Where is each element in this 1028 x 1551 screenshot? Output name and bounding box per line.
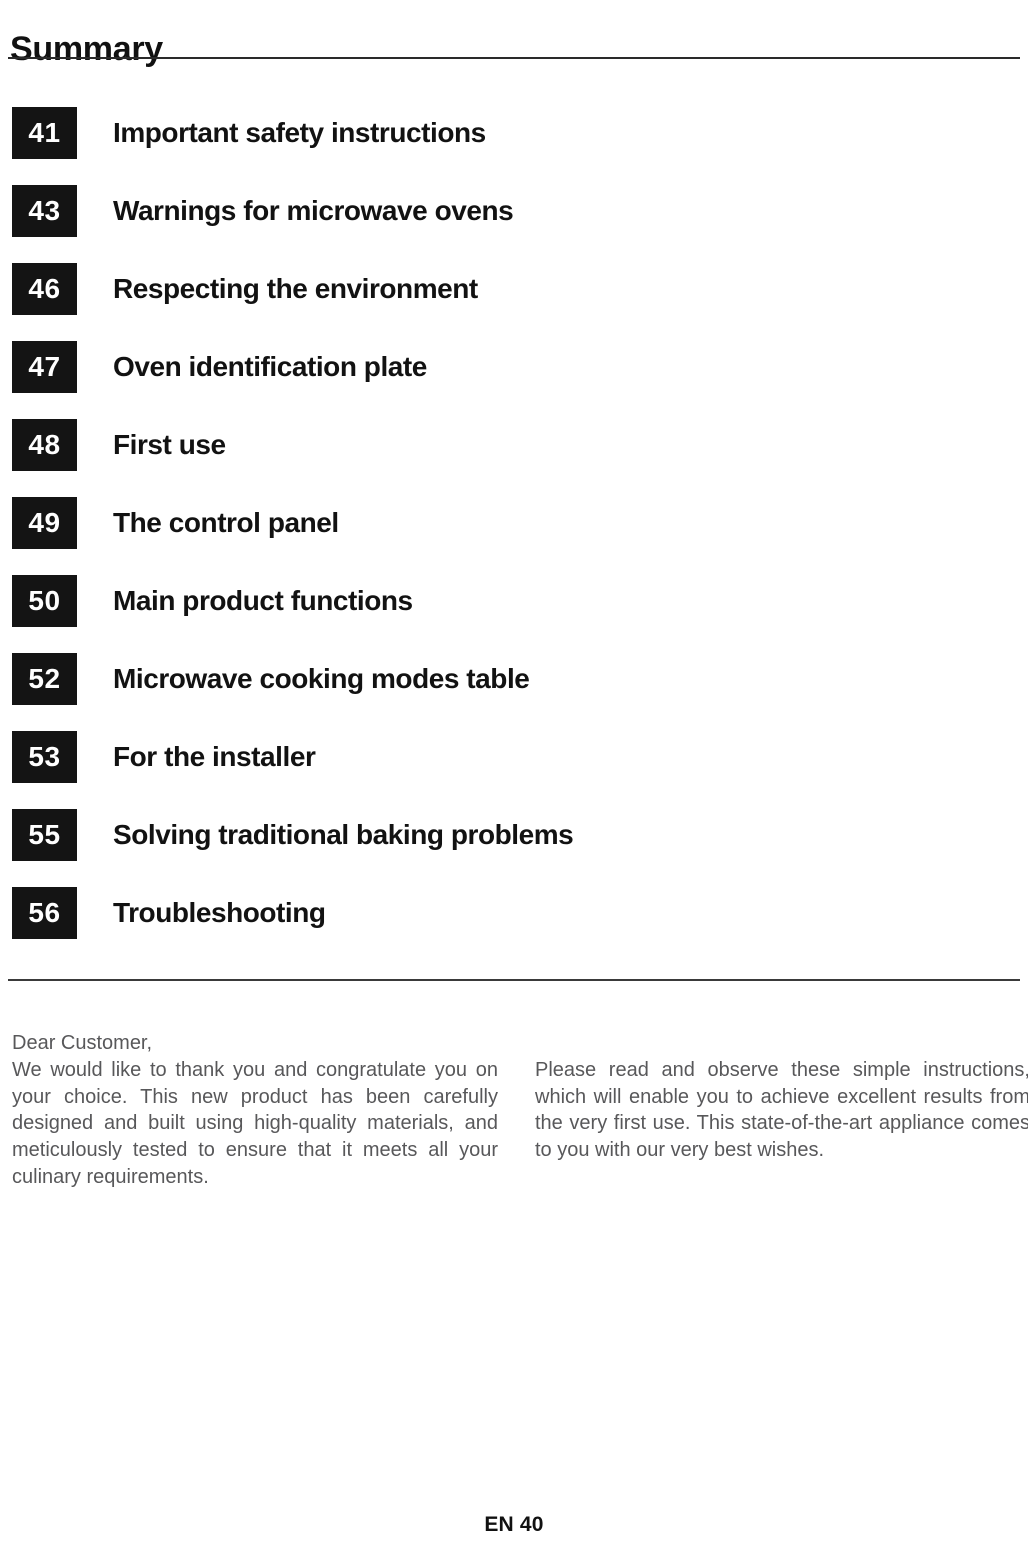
toc-entry-label: First use: [113, 419, 226, 471]
salutation: Dear Customer,: [12, 1030, 498, 1057]
toc-entry[interactable]: 50 Main product functions: [0, 575, 1028, 653]
toc-page-number-badge: 49: [12, 497, 77, 549]
introduction-block: Dear Customer, We would like to thank yo…: [12, 1030, 1018, 1230]
toc-page-number-badge: 55: [12, 809, 77, 861]
toc-entry-label: Respecting the environment: [113, 263, 478, 315]
toc-entry[interactable]: 52 Microwave cooking modes table: [0, 653, 1028, 731]
toc-page-number-badge: 48: [12, 419, 77, 471]
toc-entry-label: Warnings for microwave ovens: [113, 185, 513, 237]
toc-entry-label: Troubleshooting: [113, 887, 326, 939]
toc-entry-label: For the installer: [113, 731, 315, 783]
toc-entry[interactable]: 46 Respecting the environment: [0, 263, 1028, 341]
introduction-paragraph-right: Please read and observe these simple ins…: [535, 1057, 1028, 1164]
section-divider: [8, 979, 1020, 981]
toc-page-number-badge: 46: [12, 263, 77, 315]
toc-entry[interactable]: 43 Warnings for microwave ovens: [0, 185, 1028, 263]
page-title: Summary: [10, 27, 163, 71]
introduction-column-left: Dear Customer, We would like to thank yo…: [12, 1030, 498, 1191]
toc-page-number-badge: 52: [12, 653, 77, 705]
toc-page-number-badge: 43: [12, 185, 77, 237]
toc-page-number-badge: 50: [12, 575, 77, 627]
toc-entry[interactable]: 53 For the installer: [0, 731, 1028, 809]
toc-page-number-badge: 47: [12, 341, 77, 393]
toc-entry-label: Oven identification plate: [113, 341, 427, 393]
toc-entry[interactable]: 49 The control panel: [0, 497, 1028, 575]
toc-entry-label: Microwave cooking modes table: [113, 653, 529, 705]
toc-entry[interactable]: 47 Oven identification plate: [0, 341, 1028, 419]
toc-entry-label: Main product functions: [113, 575, 413, 627]
toc-entry[interactable]: 48 First use: [0, 419, 1028, 497]
toc-entry[interactable]: 41 Important safety instructions: [0, 107, 1028, 185]
toc-page-number-badge: 56: [12, 887, 77, 939]
toc-entry-label: Solving traditional baking problems: [113, 809, 573, 861]
page-footer: EN 40: [0, 1513, 1028, 1537]
toc-entry[interactable]: 56 Troubleshooting: [0, 887, 1028, 965]
toc-entry[interactable]: 55 Solving traditional baking problems: [0, 809, 1028, 887]
toc-entry-label: The control panel: [113, 497, 339, 549]
document-page: Summary 41 Important safety instructions…: [0, 0, 1028, 1551]
toc-page-number-badge: 53: [12, 731, 77, 783]
toc-page-number-badge: 41: [12, 107, 77, 159]
introduction-column-right: Please read and observe these simple ins…: [535, 1057, 1028, 1164]
toc-entry-label: Important safety instructions: [113, 107, 486, 159]
header-divider: [8, 57, 1020, 59]
table-of-contents: 41 Important safety instructions 43 Warn…: [0, 107, 1028, 965]
introduction-paragraph-left: We would like to thank you and congratul…: [12, 1057, 498, 1191]
